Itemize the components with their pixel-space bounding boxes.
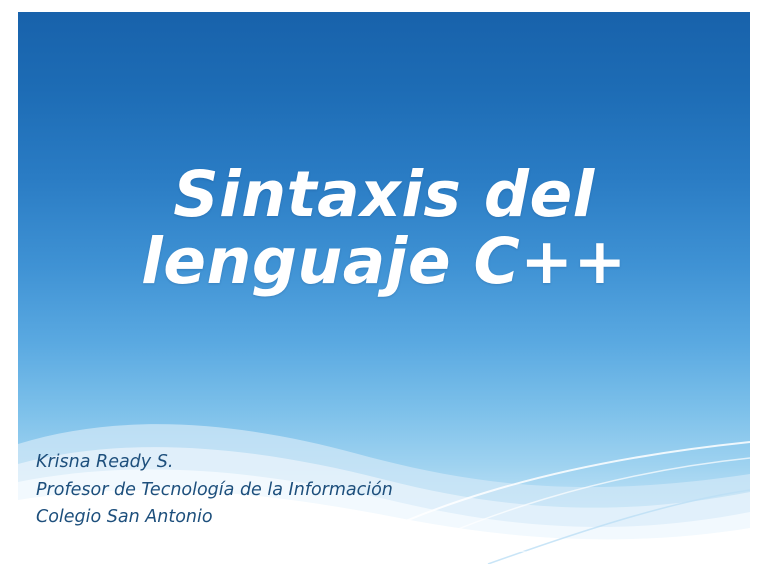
slide-title-line-2: lenguaje C++ — [18, 229, 750, 296]
subtitle-institution: Colegio San Antonio — [36, 504, 686, 532]
slide-title: Sintaxis del lenguaje C++ — [18, 162, 750, 296]
subtitle-role: Profesor de Tecnología de la Información — [36, 477, 686, 505]
slide-background: Sintaxis del lenguaje C++ Krisna Ready S… — [18, 12, 750, 564]
slide-subtitle: Krisna Ready S. Profesor de Tecnología d… — [36, 449, 686, 532]
subtitle-author: Krisna Ready S. — [36, 449, 686, 477]
slide-canvas: Sintaxis del lenguaje C++ Krisna Ready S… — [0, 0, 768, 576]
slide-title-line-1: Sintaxis del — [18, 162, 750, 229]
